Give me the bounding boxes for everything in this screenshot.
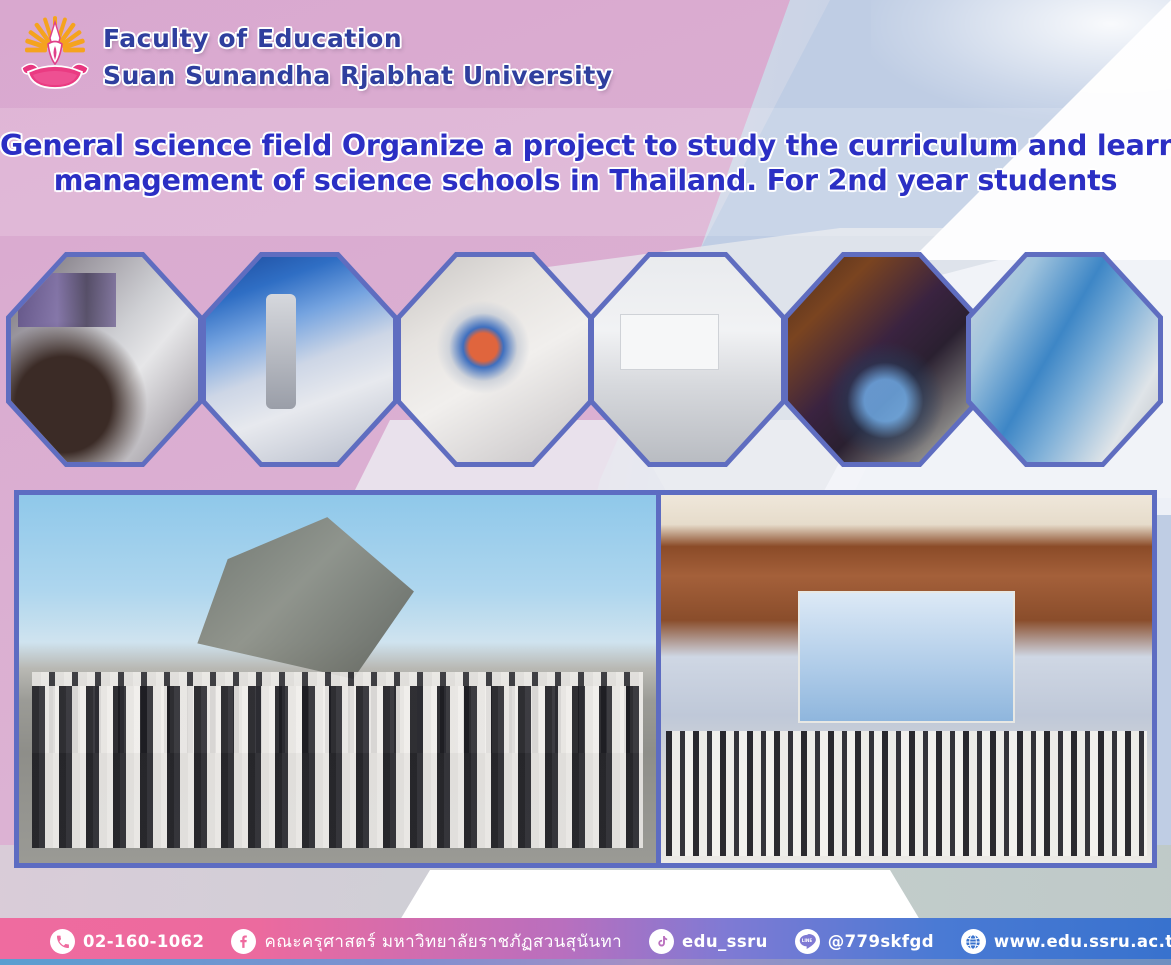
- octagon-photo-2: [201, 252, 398, 467]
- photo-plasma-ball: [788, 257, 975, 462]
- page-title-line-1: General science field Organize a project…: [0, 128, 1171, 163]
- footer-facebook-label: คณะครุศาสตร์ มหาวิทยาลัยราชภัฏสวนสุนันทา: [264, 928, 622, 955]
- footer-bottom-strip: [0, 959, 1171, 965]
- photo-classroom: [594, 257, 781, 462]
- page-title: General science field Organize a project…: [0, 128, 1171, 198]
- octagon-photo-3: [396, 252, 593, 467]
- page-title-line-2: management of science schools in Thailan…: [0, 163, 1171, 198]
- ssru-crest-icon: [14, 10, 96, 102]
- tiktok-icon: [649, 929, 674, 954]
- photo-robot-exhibit: [206, 257, 393, 462]
- footer-website-label: www.edu.ssru.ac.th: [994, 932, 1171, 951]
- photo-globe-exhibit: [401, 257, 588, 462]
- faculty-name-line: Faculty of Education: [103, 20, 613, 57]
- footer-contact-website[interactable]: www.edu.ssru.ac.th: [961, 929, 1171, 954]
- poster-footer: 02-160-1062 คณะครุศาสตร์ มหาวิทยาลัยราชภ…: [0, 918, 1171, 965]
- globe-icon: [961, 929, 986, 954]
- poster-header: Faculty of Education Suan Sunandha Rjabh…: [0, 0, 1171, 112]
- photo-plasma-tubes: [971, 257, 1158, 462]
- footer-tiktok-label: edu_ssru: [682, 932, 768, 951]
- octagon-photo-5: [783, 252, 980, 467]
- big-photo-auditorium: [661, 495, 1152, 863]
- footer-contact-line[interactable]: LINE @779skfgd: [795, 929, 934, 954]
- phone-icon: [50, 929, 75, 954]
- poster-root: Faculty of Education Suan Sunandha Rjabh…: [0, 0, 1171, 965]
- footer-contact-phone[interactable]: 02-160-1062: [50, 929, 204, 954]
- svg-text:LINE: LINE: [802, 937, 813, 942]
- photo-microscope: [11, 257, 198, 462]
- octagon-photo-6: [966, 252, 1163, 467]
- footer-phone-label: 02-160-1062: [83, 932, 204, 951]
- big-photo-museum: [19, 495, 656, 863]
- background-lower-white-shape: [400, 870, 920, 920]
- header-title-group: Faculty of Education Suan Sunandha Rjabh…: [103, 20, 613, 94]
- octagon-photo-strip: [0, 252, 1171, 470]
- university-name-line: Suan Sunandha Rjabhat University: [103, 57, 613, 94]
- footer-line-label: @779skfgd: [828, 932, 934, 951]
- octagon-photo-1: [6, 252, 203, 467]
- footer-contact-tiktok[interactable]: edu_ssru: [649, 929, 768, 954]
- line-icon: LINE: [795, 929, 820, 954]
- footer-contact-facebook[interactable]: คณะครุศาสตร์ มหาวิทยาลัยราชภัฏสวนสุนันทา: [231, 928, 622, 955]
- octagon-photo-4: [589, 252, 786, 467]
- facebook-icon: [231, 929, 256, 954]
- big-photo-row: [14, 490, 1157, 868]
